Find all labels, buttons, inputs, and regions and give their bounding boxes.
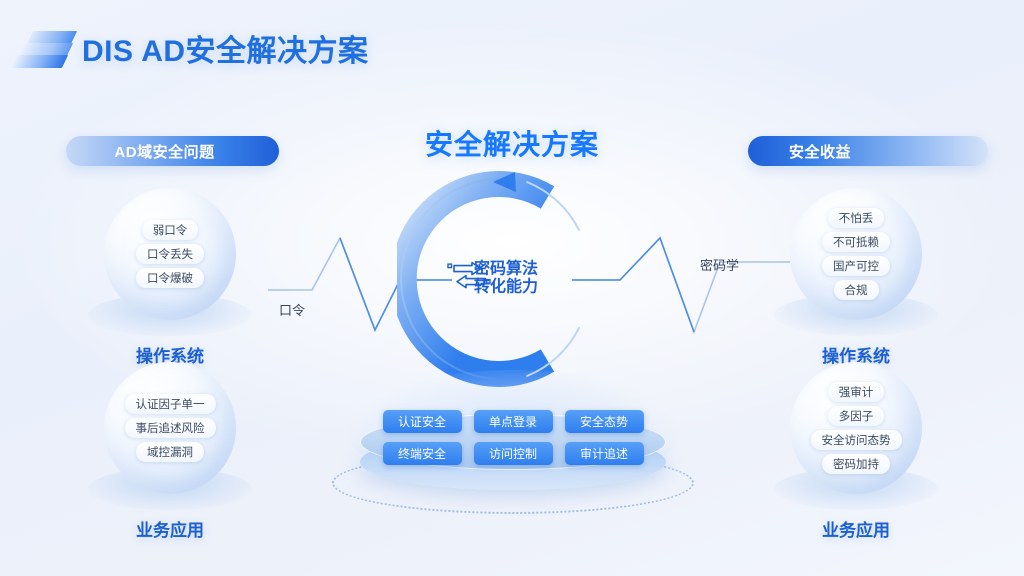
cluster-label: 业务应用 bbox=[70, 516, 270, 541]
capability-chip[interactable]: 认证安全 bbox=[383, 410, 462, 433]
capability-chip[interactable]: 单点登录 bbox=[474, 410, 553, 433]
globe-right-os: 不怕丢 不可抵赖 国产可控 合规 bbox=[790, 188, 922, 320]
cycle-ring-diagram: 密码算法 转化能力 bbox=[397, 170, 615, 388]
list-item: 合规 bbox=[834, 280, 879, 300]
list-item: 口令爆破 bbox=[136, 268, 204, 288]
globe-right-apps: 强审计 多因子 安全访问态势 密码加持 bbox=[790, 362, 922, 494]
cluster-left-os: 弱口令 口令丢失 口令爆破 操作系统 bbox=[70, 188, 270, 367]
capability-chip[interactable]: 访问控制 bbox=[474, 442, 553, 465]
list-item: 域控漏洞 bbox=[136, 442, 204, 462]
globe-left-apps: 认证因子单一 事后追述风险 域控漏洞 bbox=[104, 362, 236, 494]
solution-podium: 认证安全 单点登录 安全态势 终端安全 访问控制 审计追述 bbox=[318, 378, 708, 518]
cluster-left-apps: 认证因子单一 事后追述风险 域控漏洞 业务应用 bbox=[70, 362, 270, 541]
list-item: 不怕丢 bbox=[828, 208, 885, 228]
capability-chip-list: 认证安全 单点登录 安全态势 终端安全 访问控制 审计追述 bbox=[366, 410, 660, 465]
capability-chip[interactable]: 终端安全 bbox=[383, 442, 462, 465]
capability-chip[interactable]: 安全态势 bbox=[565, 410, 644, 433]
connector-label-left: 口令 bbox=[279, 300, 305, 319]
list-item: 强审计 bbox=[828, 382, 885, 402]
list-item: 安全访问态势 bbox=[811, 430, 902, 450]
list-item: 认证因子单一 bbox=[125, 394, 216, 414]
list-item: 口令丢失 bbox=[136, 244, 204, 264]
exchange-arrows-icon bbox=[446, 261, 492, 289]
cluster-right-os: 不怕丢 不可抵赖 国产可控 合规 操作系统 bbox=[756, 188, 956, 367]
center-title: 安全解决方案 bbox=[0, 123, 1024, 163]
cluster-right-apps: 强审计 多因子 安全访问态势 密码加持 业务应用 bbox=[756, 362, 956, 541]
globe-left-os: 弱口令 口令丢失 口令爆破 bbox=[104, 188, 236, 320]
ring-core: 密码算法 转化能力 bbox=[446, 261, 566, 298]
cluster-label: 业务应用 bbox=[756, 516, 956, 541]
list-item: 事后追述风险 bbox=[125, 418, 216, 438]
list-item: 弱口令 bbox=[142, 220, 199, 240]
capability-chip[interactable]: 审计追述 bbox=[565, 442, 644, 465]
list-item: 国产可控 bbox=[822, 256, 890, 276]
list-item: 多因子 bbox=[828, 406, 885, 426]
list-item: 密码加持 bbox=[822, 454, 890, 474]
connector-label-right: 密码学 bbox=[700, 255, 739, 274]
list-item: 不可抵赖 bbox=[822, 232, 890, 252]
